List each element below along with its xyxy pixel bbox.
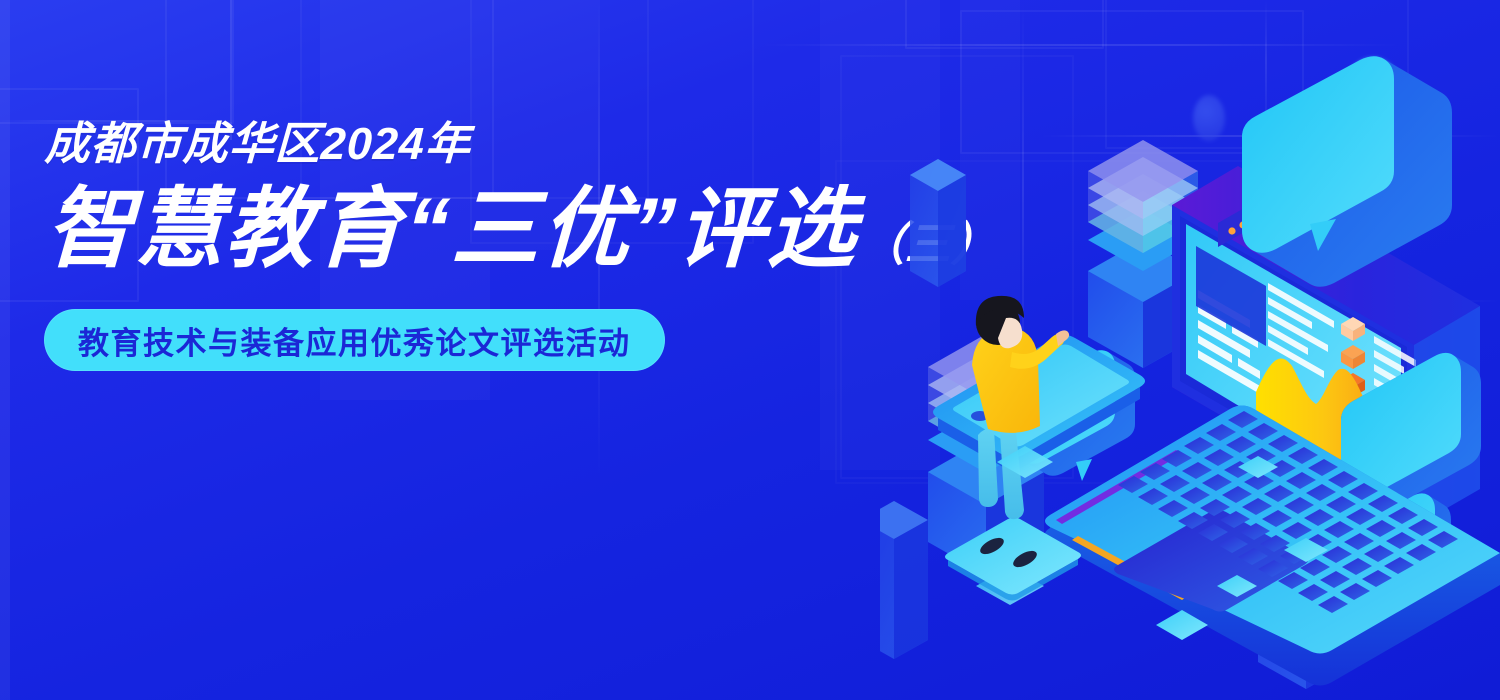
subtitle-pill: 教育技术与装备应用优秀论文评选活动 <box>44 309 665 371</box>
isometric-illustration <box>880 0 1500 700</box>
promo-banner: 成都市成华区2024年 智慧教育“三优”评选（三） 教育技术与装备应用优秀论文评… <box>0 0 1500 700</box>
subtitle-pill-label: 教育技术与装备应用优秀论文评选活动 <box>78 318 631 363</box>
chat-bubble-top <box>1242 56 1452 287</box>
iso-block-tower-bottom-left <box>880 501 928 659</box>
iso-block-tower-left <box>910 159 966 287</box>
headline-main-text: 智慧教育“三优”评选 <box>44 185 859 273</box>
bg-band <box>0 0 10 700</box>
bg-rect <box>0 0 234 124</box>
